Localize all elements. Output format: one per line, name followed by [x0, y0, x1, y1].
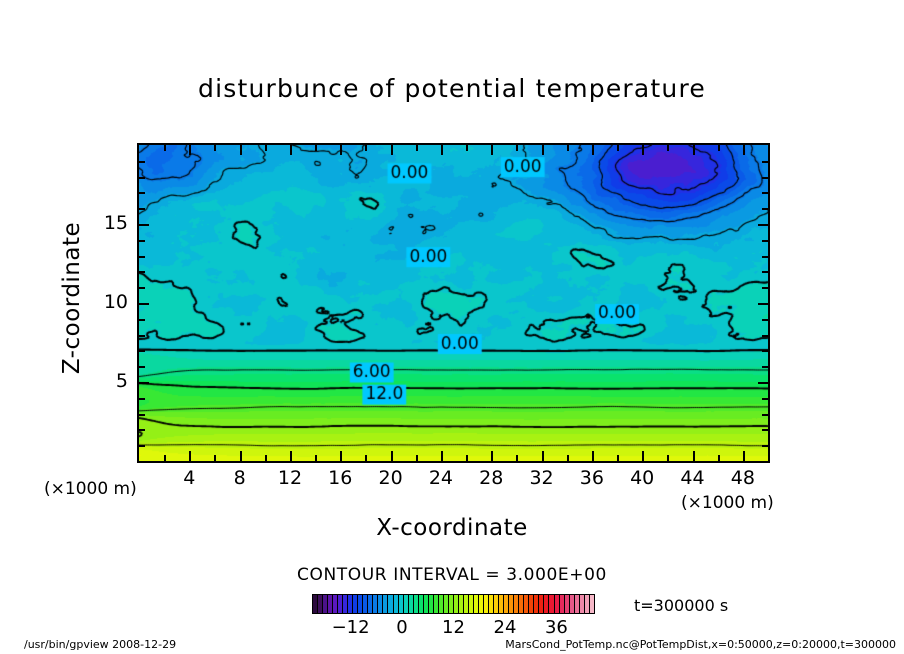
x-axis-tick-top — [365, 145, 367, 151]
colorbar-swatch — [590, 595, 594, 613]
x-axis-tick-top — [265, 145, 267, 151]
time-label: t=300000 s — [634, 596, 728, 615]
x-axis-tick-top — [391, 145, 393, 155]
x-tick-label: 32 — [520, 467, 564, 489]
x-tick-label: 44 — [671, 467, 715, 489]
x-axis-tick-top — [290, 145, 292, 155]
x-axis-tick — [189, 451, 191, 461]
y-axis-tick-right — [762, 256, 768, 258]
x-axis-tick-top — [642, 145, 644, 155]
y-axis-tick — [139, 398, 145, 400]
footer-command: /usr/bin/gpview 2008-12-29 — [24, 638, 176, 651]
y-axis-tick — [139, 271, 145, 273]
x-axis-tick — [592, 451, 594, 461]
x-axis-tick — [743, 451, 745, 461]
y-tick-label: 10 — [88, 291, 128, 313]
x-tick-label: 48 — [721, 467, 765, 489]
y-axis-tick — [139, 287, 145, 289]
colorbar-tick-labels: −120122436 — [312, 617, 595, 639]
x-axis-tick — [567, 455, 569, 461]
x-tick-label: 28 — [469, 467, 513, 489]
x-axis-tick — [491, 451, 493, 461]
y-axis-tick — [139, 414, 145, 416]
x-axis-tick-top — [542, 145, 544, 155]
x-axis-tick-top — [718, 145, 720, 151]
y-axis-tick-right — [762, 398, 768, 400]
y-axis-tick-right — [758, 382, 768, 384]
colorbar-tick-label: 0 — [377, 617, 427, 638]
footer-dataset-info: MarsCond_PotTemp.nc@PotTempDist,x=0:5000… — [505, 638, 896, 651]
y-axis-tick — [139, 208, 145, 210]
y-axis-tick — [139, 224, 149, 226]
x-axis-tick-top — [214, 145, 216, 151]
y-axis-tick-right — [762, 192, 768, 194]
x-tick-label: 16 — [318, 467, 362, 489]
x-axis-tick — [265, 455, 267, 461]
y-tick-label: 5 — [88, 370, 128, 392]
x-axis-tick-top — [315, 145, 317, 151]
x-axis-tick — [466, 455, 468, 461]
y-axis-tick — [139, 350, 145, 352]
x-tick-label: 4 — [167, 467, 211, 489]
x-axis-tick — [164, 455, 166, 461]
page-title: disturbunce of potential temperature — [0, 74, 904, 103]
x-axis-tick-top — [466, 145, 468, 151]
x-axis-tick — [516, 455, 518, 461]
y-axis-tick — [139, 429, 145, 431]
x-axis-tick-top — [416, 145, 418, 151]
x-tick-label: 24 — [419, 467, 463, 489]
x-axis-tick — [542, 451, 544, 461]
x-axis-title: X-coordinate — [0, 515, 904, 541]
x-axis-tick — [340, 451, 342, 461]
x-axis-tick-top — [516, 145, 518, 151]
y-axis-tick-right — [762, 414, 768, 416]
x-tick-label: 40 — [620, 467, 664, 489]
x-axis-tick-top — [491, 145, 493, 155]
y-axis-tick — [139, 382, 149, 384]
x-tick-label: 12 — [268, 467, 312, 489]
x-tick-label: 20 — [369, 467, 413, 489]
y-tick-label: 15 — [88, 212, 128, 234]
y-axis-tick-right — [762, 350, 768, 352]
x-axis-tick — [642, 451, 644, 461]
y-axis-tick — [139, 177, 145, 179]
x-axis-tick-top — [693, 145, 695, 155]
y-axis-tick — [139, 303, 149, 305]
x-axis-tick — [290, 451, 292, 461]
x-axis-units: (×1000 m) — [681, 493, 774, 513]
colorbar-tick-label: −12 — [326, 617, 376, 638]
x-axis-tick-top — [567, 145, 569, 151]
contour-interval-label: CONTOUR INTERVAL = 3.000E+00 — [0, 565, 904, 585]
y-axis-tick-right — [762, 271, 768, 273]
y-axis-tick — [139, 335, 145, 337]
x-axis-tick — [667, 455, 669, 461]
y-axis-tick-right — [762, 366, 768, 368]
y-axis-tick-right — [758, 303, 768, 305]
x-tick-label: 8 — [218, 467, 262, 489]
x-axis-tick — [240, 451, 242, 461]
x-axis-tick — [416, 455, 418, 461]
x-tick-label: 36 — [570, 467, 614, 489]
colorbar-tick-label: 36 — [531, 617, 581, 638]
x-axis-tick-top — [592, 145, 594, 155]
x-axis-tick — [365, 455, 367, 461]
y-axis-tick-right — [762, 161, 768, 163]
y-axis-tick-right — [762, 177, 768, 179]
contour-plot-panel — [137, 143, 770, 463]
y-axis-tick-right — [762, 240, 768, 242]
y-axis-tick-right — [762, 319, 768, 321]
y-axis-tick-right — [762, 429, 768, 431]
y-axis-tick-right — [762, 445, 768, 447]
contour-plot-canvas — [139, 145, 768, 461]
x-axis-tick-top — [189, 145, 191, 155]
y-axis-title: Z-coordinate — [59, 188, 85, 408]
x-axis-tick-top — [667, 145, 669, 151]
x-axis-tick — [718, 455, 720, 461]
y-axis-tick-right — [762, 335, 768, 337]
x-axis-tick-top — [441, 145, 443, 155]
y-axis-tick-right — [762, 208, 768, 210]
colorbar-tick-label: 24 — [480, 617, 530, 638]
y-axis-tick-right — [758, 224, 768, 226]
y-axis-tick — [139, 240, 145, 242]
x-axis-tick — [315, 455, 317, 461]
y-axis-tick — [139, 366, 145, 368]
y-axis-tick — [139, 445, 145, 447]
x-axis-tick-top — [340, 145, 342, 155]
x-axis-tick — [441, 451, 443, 461]
x-axis-tick-top — [743, 145, 745, 155]
x-axis-tick-top — [617, 145, 619, 151]
x-axis-tick — [617, 455, 619, 461]
y-axis-tick-right — [762, 287, 768, 289]
x-axis-tick-top — [164, 145, 166, 151]
x-axis-tick — [391, 451, 393, 461]
y-axis-tick — [139, 256, 145, 258]
x-axis-tick — [214, 455, 216, 461]
colorbar — [312, 594, 595, 614]
x-axis-tick — [693, 451, 695, 461]
colorbar-tick-label: 12 — [429, 617, 479, 638]
x-axis-tick-top — [240, 145, 242, 155]
z-axis-units: (×1000 m) — [44, 479, 137, 499]
y-axis-tick — [139, 192, 145, 194]
y-axis-tick — [139, 161, 145, 163]
y-axis-tick — [139, 319, 145, 321]
